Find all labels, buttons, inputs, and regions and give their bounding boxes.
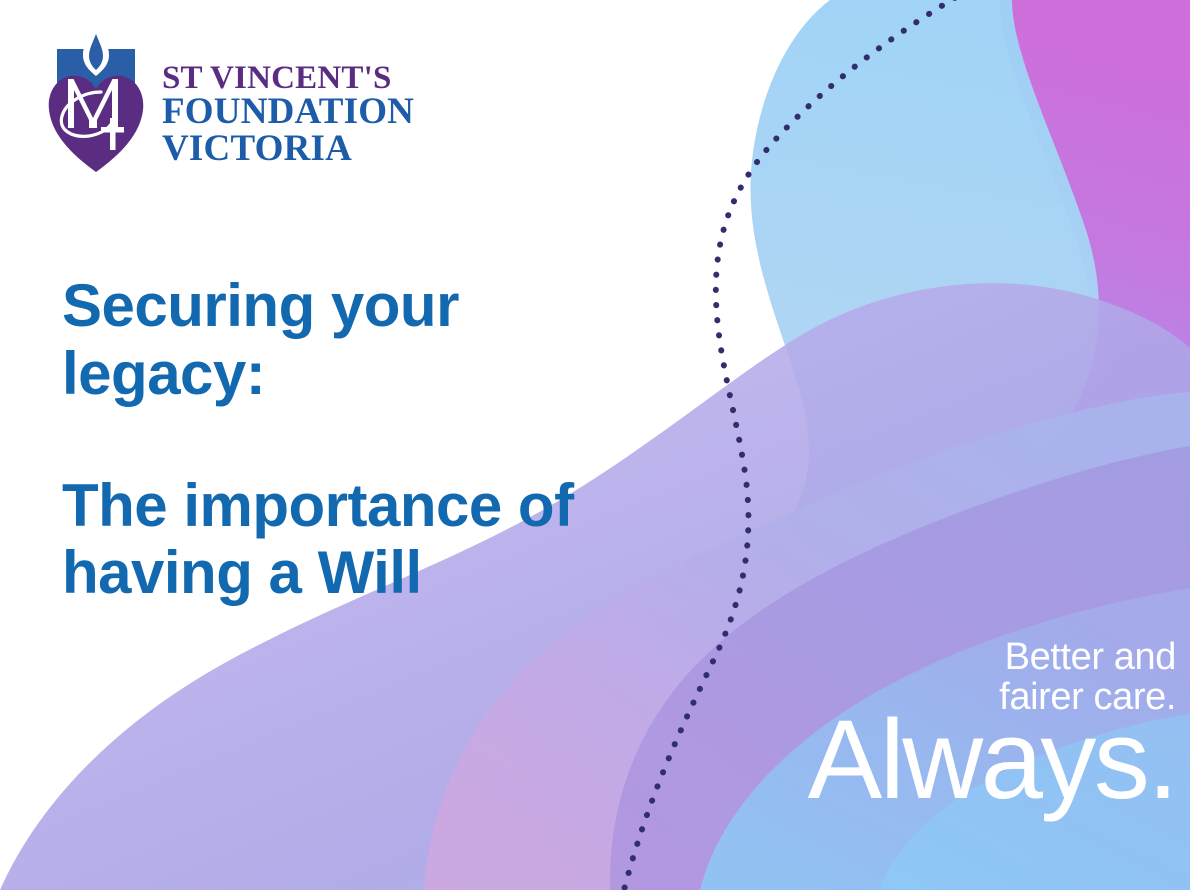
brand-tagline: Better and fairer care. Always. [808,638,1176,806]
st-vincents-foundation-victoria-logo: ST VINCENT'S FOUNDATION VICTORIA [44,24,414,174]
logo-line-3: VICTORIA [162,131,414,167]
tagline-line-1: Better and [808,638,1176,678]
presentation-title-slide: ST VINCENT'S FOUNDATION VICTORIA Securin… [0,0,1190,890]
title-line-4: having a Will [62,539,682,607]
tagline-always: Always. [808,714,1176,806]
logo-wordmark: ST VINCENT'S FOUNDATION VICTORIA [162,62,414,167]
title-part-one: Securing your legacy: [62,272,682,408]
logo-line-1: ST VINCENT'S [162,62,414,94]
slide-title-block: Securing your legacy: The importance of … [62,272,682,607]
flame-heart-monogram-icon [44,24,148,174]
title-line-2: legacy: [62,340,682,408]
logo-line-2: FOUNDATION [162,94,414,130]
title-line-1: Securing your [62,272,682,340]
title-part-two: The importance of having a Will [62,472,682,608]
title-line-3: The importance of [62,472,682,540]
